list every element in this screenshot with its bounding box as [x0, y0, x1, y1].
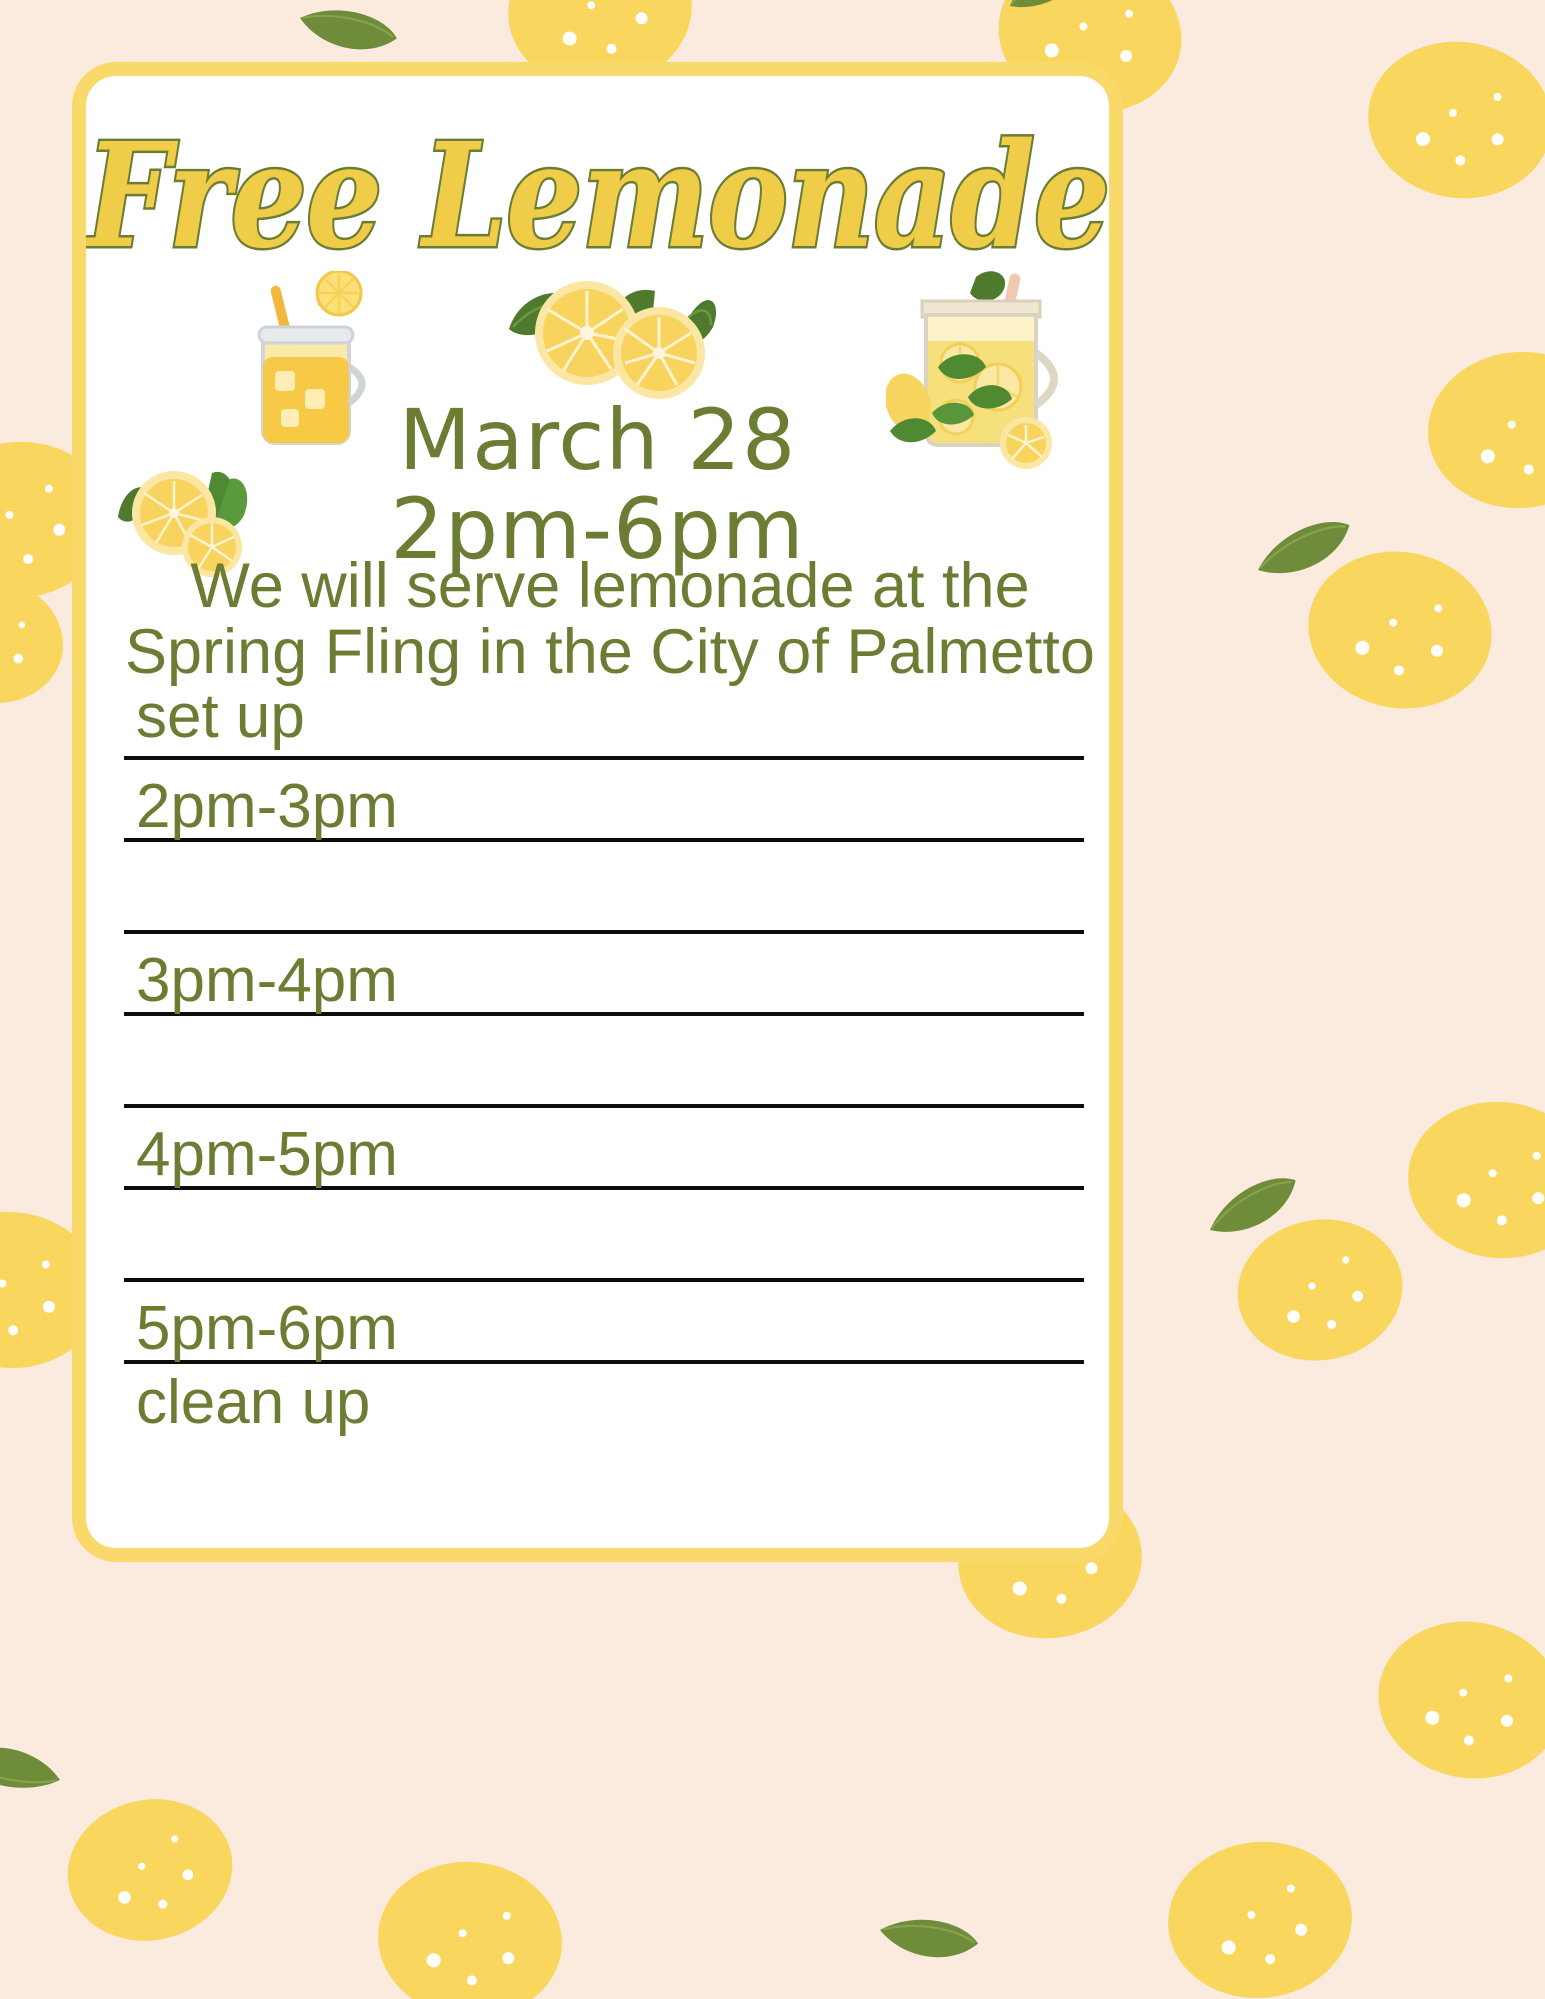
- page-title: Free Lemonade: [86, 124, 1109, 242]
- event-date-block: March 28 2pm-6pm: [86, 396, 1109, 574]
- schedule-slot-label-0: 2pm-3pm: [124, 776, 1084, 838]
- spacer: [124, 842, 1084, 930]
- spacer: [124, 1190, 1084, 1278]
- schedule-slot-label-1: 3pm-4pm: [124, 950, 1084, 1012]
- schedule-slot-label-3: 5pm-6pm: [124, 1298, 1084, 1360]
- description-line-2: Spring Fling in the City of Palmetto: [110, 620, 1110, 686]
- event-description: We will serve lemonade at the Spring Fli…: [110, 554, 1110, 685]
- schedule-cleanup-label: clean up: [124, 1372, 1084, 1434]
- flyer-title-text: Free Lemonade: [76, 124, 1119, 268]
- schedule-signup-list: set up 2pm-3pm 3pm-4pm 4pm-5pm 5pm-6pm c…: [124, 686, 1084, 1434]
- schedule-slot-label-2: 4pm-5pm: [124, 1124, 1084, 1186]
- spacer: [124, 1016, 1084, 1104]
- schedule-setup-label: set up: [124, 686, 1084, 748]
- event-date: March 28: [86, 396, 1109, 485]
- flyer-card: Free Lemonade: [72, 62, 1123, 1562]
- description-line-1: We will serve lemonade at the: [110, 554, 1110, 620]
